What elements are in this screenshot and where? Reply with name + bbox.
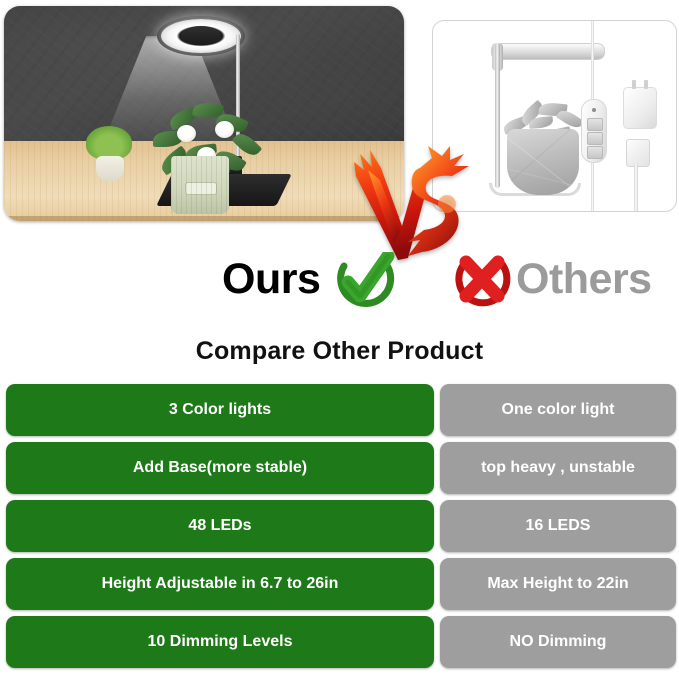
ours-product-photo	[4, 6, 404, 221]
ours-cell: Add Base(more stable)	[6, 442, 434, 494]
usb-cable	[634, 163, 638, 211]
controller-button-3	[587, 146, 603, 159]
others-label: Others	[516, 258, 652, 301]
table-row: 10 Dimming Levels NO Dimming	[0, 616, 679, 668]
geometric-gray-pot	[507, 129, 579, 195]
inline-controller	[581, 99, 607, 163]
controller-button-2	[587, 132, 603, 145]
controller-indicator-led	[592, 108, 596, 112]
others-cell: NO Dimming	[440, 616, 676, 668]
red-cross-circle-icon	[452, 252, 514, 310]
usb-connector	[626, 139, 650, 167]
ours-label: Ours	[222, 258, 320, 301]
desk-edge	[4, 216, 404, 221]
controller-button-1	[587, 118, 603, 131]
others-cell: One color light	[440, 384, 676, 436]
ours-cell: 10 Dimming Levels	[6, 616, 434, 668]
others-cell: top heavy , unstable	[440, 442, 676, 494]
pot-label	[185, 182, 217, 195]
page-title: Compare Other Product	[0, 337, 679, 366]
small-green-plant	[86, 126, 132, 160]
others-cell: 16 LEDS	[440, 500, 676, 552]
table-row: 48 LEDs 16 LEDS	[0, 500, 679, 552]
ours-cell: 48 LEDs	[6, 500, 434, 552]
competitor-lamp-head-icon	[491, 43, 605, 60]
ring-lamp-head-icon	[157, 16, 245, 56]
ribbed-sage-pot	[171, 156, 229, 214]
hero-comparison-images	[0, 0, 679, 250]
vs-flame-badge-icon	[350, 140, 475, 265]
green-check-circle-icon	[334, 252, 396, 310]
comparison-table: 3 Color lights One color light Add Base(…	[0, 384, 679, 674]
small-white-pot	[96, 156, 124, 182]
ours-cell: Height Adjustable in 6.7 to 26in	[6, 558, 434, 610]
table-row: 3 Color lights One color light	[0, 384, 679, 436]
table-row: Height Adjustable in 6.7 to 26in Max Hei…	[0, 558, 679, 610]
wall-plug-adapter	[623, 87, 657, 129]
verdict-header: Ours Others	[0, 252, 679, 314]
table-row: Add Base(more stable) top heavy , unstab…	[0, 442, 679, 494]
others-cell: Max Height to 22in	[440, 558, 676, 610]
ours-cell: 3 Color lights	[6, 384, 434, 436]
